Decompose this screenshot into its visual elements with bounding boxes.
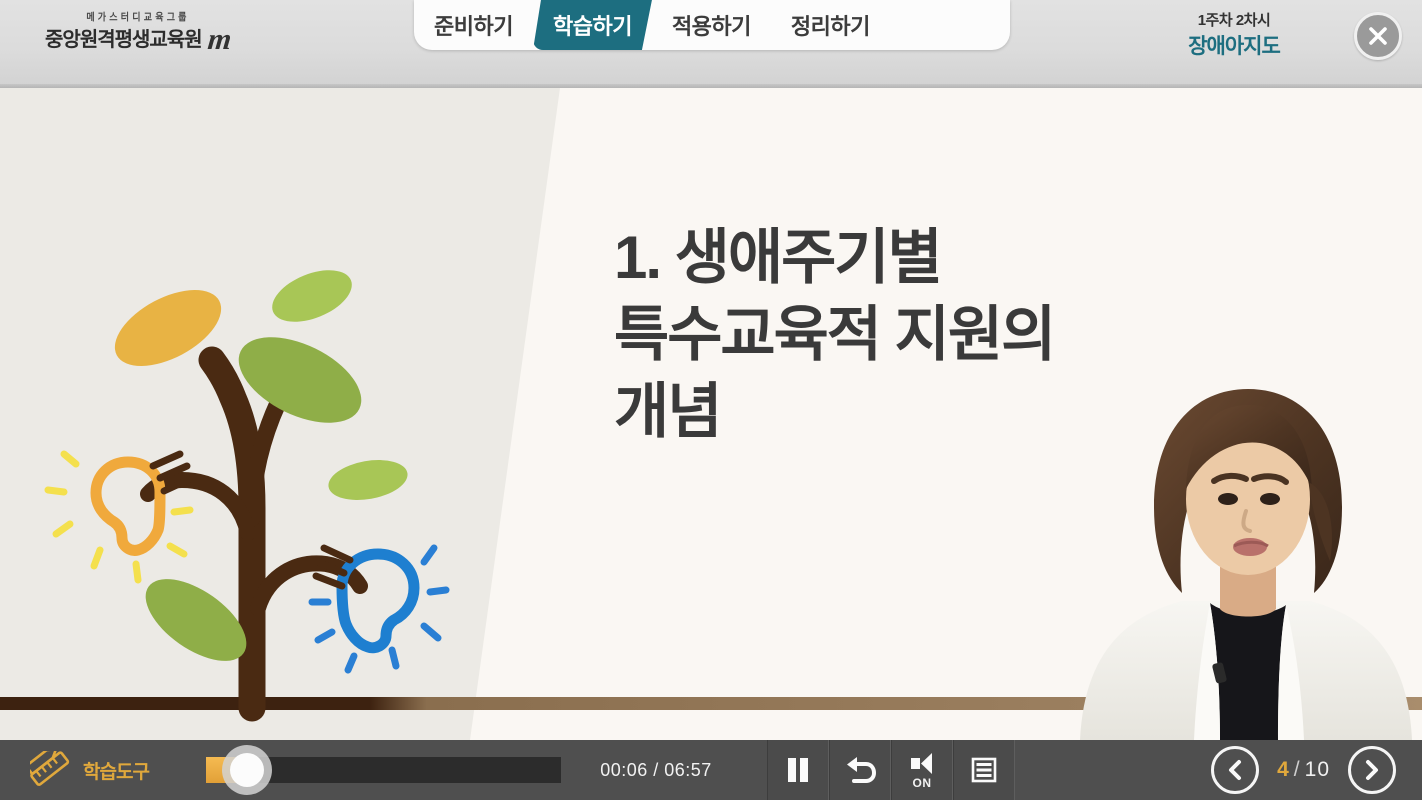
tab-review-label: 정리하기 [791, 9, 870, 41]
learning-tools-button[interactable]: 학습도구 [30, 751, 190, 789]
volume-button[interactable]: ON [891, 740, 953, 800]
slide-canvas: 1. 생애주기별 특수교육적 지원의 개념 [0, 88, 1422, 740]
replay-icon [844, 756, 876, 784]
tree-with-lightbulbs-illustration [0, 208, 520, 728]
page-separator: / [1294, 758, 1301, 781]
close-icon [1366, 24, 1390, 48]
replay-button[interactable] [829, 740, 891, 800]
list-icon [970, 756, 998, 784]
page-total: 10 [1305, 758, 1330, 781]
player-controls: 학습도구 00:06 / 06:57 [0, 740, 1422, 800]
prev-page-button[interactable] [1211, 746, 1259, 794]
volume-state-label: ON [913, 777, 932, 789]
logo-mark-icon: m [206, 25, 232, 55]
next-page-button[interactable] [1348, 746, 1396, 794]
tab-prepare[interactable]: 준비하기 [414, 0, 533, 50]
tab-review[interactable]: 정리하기 [771, 0, 890, 50]
logo-title: 중앙원격평생교육원 [45, 30, 202, 50]
page-current: 4 [1277, 758, 1290, 781]
lesson-week: 1주차 2차시 [1134, 10, 1334, 33]
app-header: 메가스터디교육그룹 중앙원격평생교육원 m 준비하기 학습하기 적용하기 정리하… [0, 0, 1422, 88]
lesson-tabs: 준비하기 학습하기 적용하기 정리하기 [414, 0, 1010, 50]
site-logo[interactable]: 메가스터디교육그룹 중앙원격평생교육원 m [28, 6, 248, 62]
chevron-left-icon [1224, 759, 1246, 781]
lesson-title: 장애아지도 [1134, 33, 1334, 60]
tab-prepare-label: 준비하기 [434, 9, 513, 41]
ruler-pencil-icon [30, 751, 74, 789]
tab-learn-label: 학습하기 [553, 9, 632, 41]
instructor-video-overlay [1070, 365, 1422, 740]
tab-learn[interactable]: 학습하기 [533, 0, 652, 50]
pause-button[interactable] [767, 740, 829, 800]
tab-apply-label: 적용하기 [672, 9, 751, 41]
logo-subtitle: 메가스터디교육그룹 [86, 12, 189, 22]
volume-icon [908, 751, 936, 775]
page-indicator: 4/10 [1277, 758, 1330, 782]
seek-knob[interactable] [222, 745, 272, 795]
close-button[interactable] [1354, 12, 1402, 60]
chevron-right-icon [1361, 759, 1383, 781]
time-display: 00:06 / 06:57 [561, 760, 751, 781]
index-button[interactable] [953, 740, 1015, 800]
pause-icon [785, 756, 811, 784]
learning-tools-label: 학습도구 [83, 757, 149, 784]
transport-buttons: ON [767, 740, 1015, 800]
seek-bar[interactable] [206, 740, 561, 800]
page-navigation: 4/10 [1211, 746, 1396, 794]
lesson-info: 1주차 2차시 장애아지도 [1134, 10, 1334, 60]
tab-apply[interactable]: 적용하기 [652, 0, 771, 50]
elearning-player: 메가스터디교육그룹 중앙원격평생교육원 m 준비하기 학습하기 적용하기 정리하… [0, 0, 1422, 800]
